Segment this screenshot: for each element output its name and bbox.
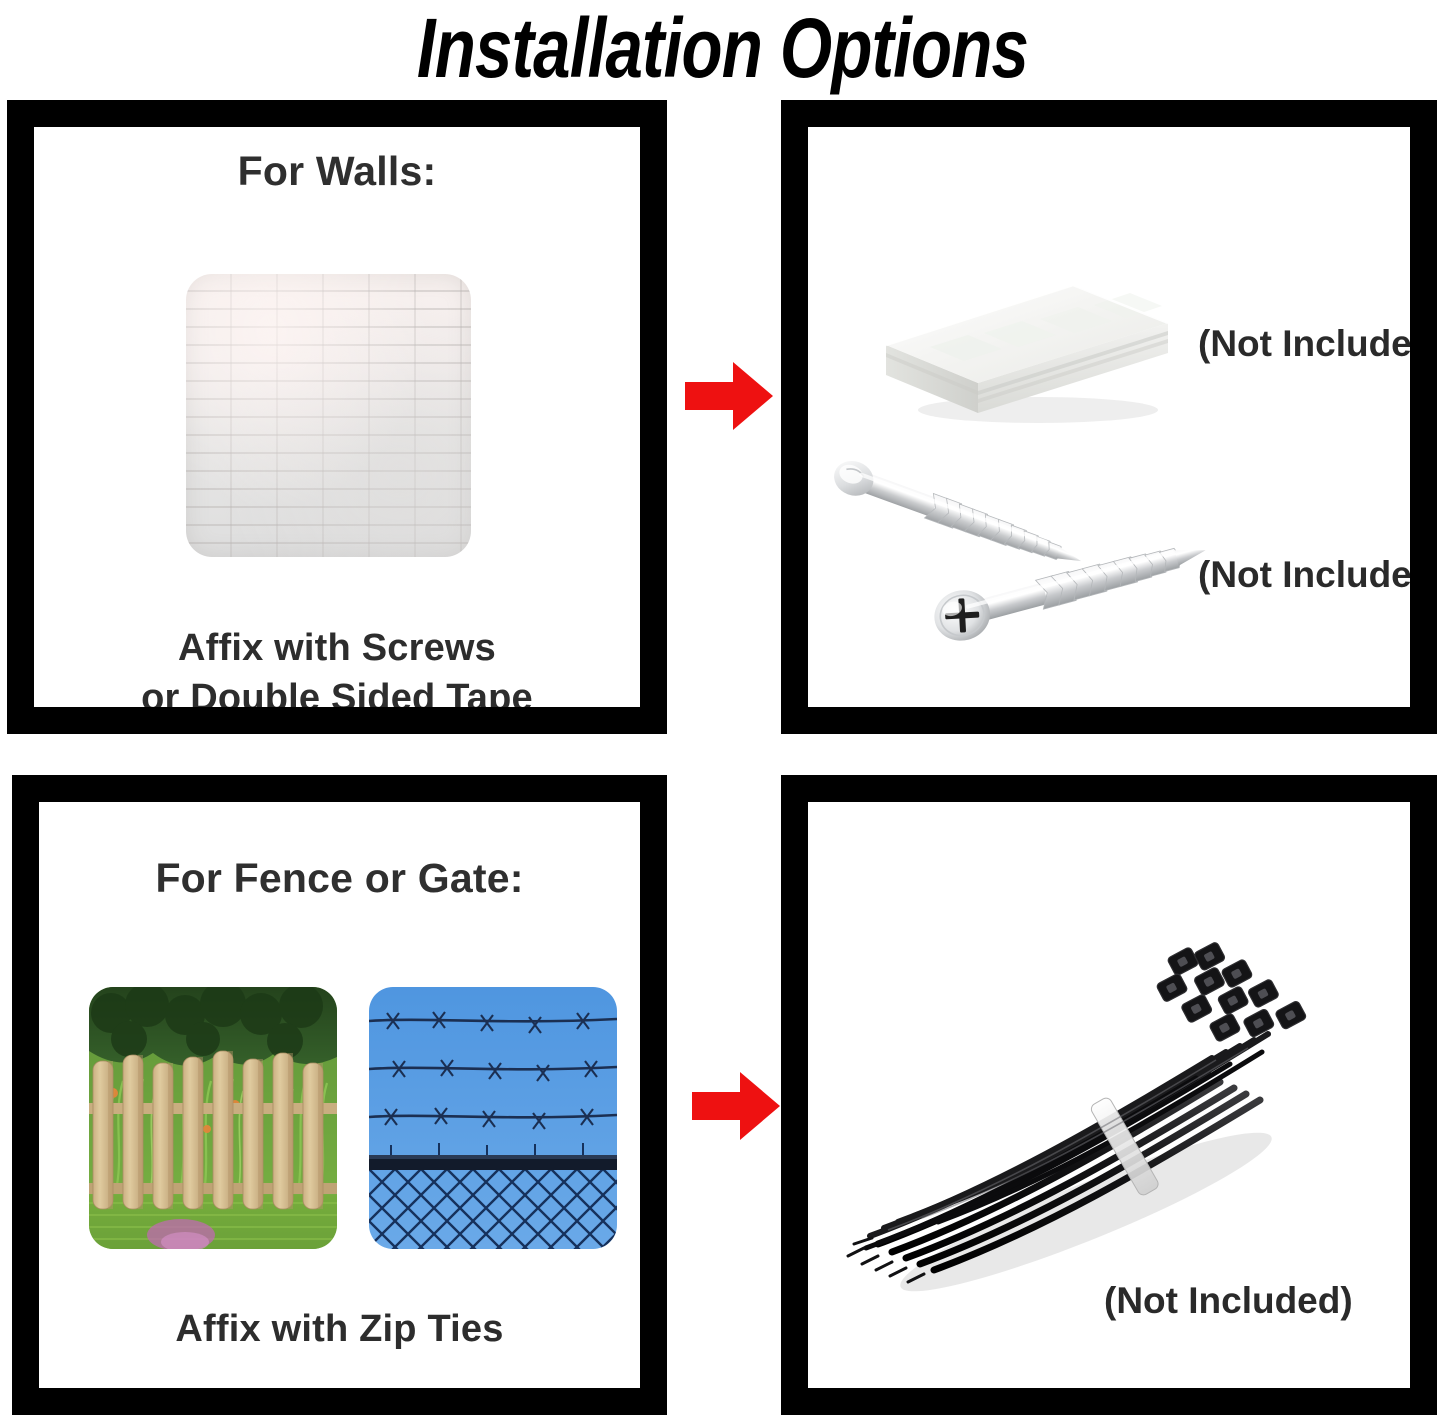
tape-not-included-label: (Not Included) [1198, 323, 1410, 365]
black-zip-tie-bundle-image [836, 892, 1356, 1292]
panel-zip-ties-body: (Not Included) [808, 802, 1410, 1388]
panel-for-fence-or-gate: For Fence or Gate: [12, 775, 667, 1415]
panel-wall-hardware-body: (Not Included) [808, 127, 1410, 707]
panel-for-walls-body: For Walls: Affix with Screws or Double S… [34, 127, 640, 707]
panel-for-fence-or-gate-body: For Fence or Gate: [39, 802, 640, 1388]
screws-not-included-label: (Not Included) [1198, 554, 1410, 596]
double-sided-tape-stack-image [868, 227, 1188, 432]
panel-wall-hardware: (Not Included) [781, 100, 1437, 734]
panel-for-walls: For Walls: Affix with Screws or Double S… [7, 100, 667, 734]
page-title: Installation Options [145, 2, 1301, 94]
red-right-arrow-icon-bottom [690, 1068, 782, 1144]
red-right-arrow-icon-top [683, 358, 775, 434]
zipties-not-included-label: (Not Included) [1104, 1280, 1353, 1322]
white-brick-wall-image [186, 274, 471, 557]
walls-caption-line-2: or Double Sided Tape [34, 673, 640, 707]
wood-screw-lower-image [918, 519, 1238, 659]
panel-zip-ties: (Not Included) [781, 775, 1437, 1415]
for-walls-heading: For Walls: [34, 147, 640, 195]
wooden-picket-fence-image [89, 987, 337, 1249]
walls-caption-line-1: Affix with Screws [34, 623, 640, 673]
fence-caption: Affix with Zip Ties [39, 1304, 640, 1354]
chain-link-barbed-wire-fence-image [369, 987, 617, 1249]
for-fence-or-gate-heading: For Fence or Gate: [39, 854, 640, 902]
